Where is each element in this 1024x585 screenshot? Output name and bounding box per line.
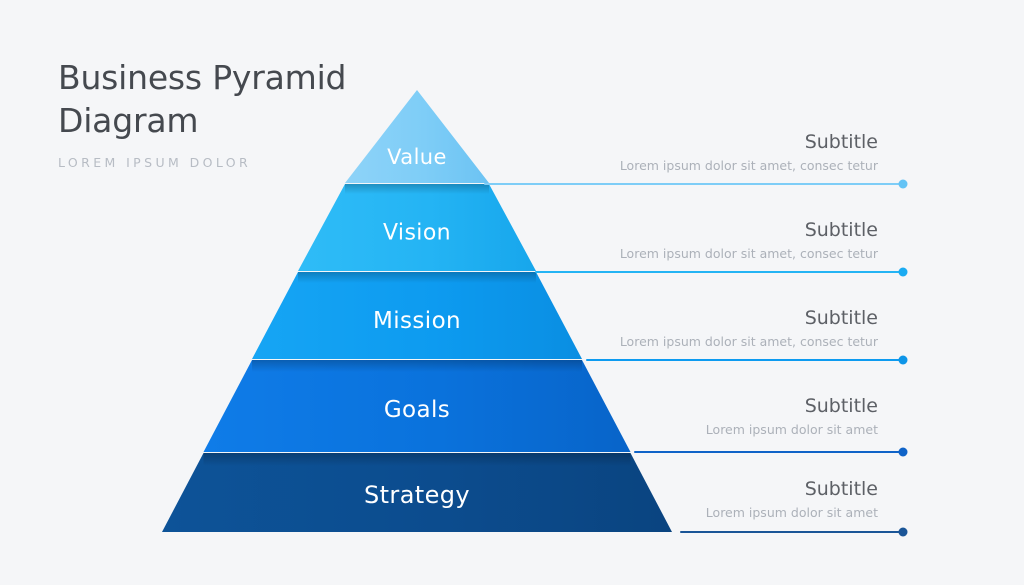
slide-canvas: Business Pyramid Diagram LOREM IPSUM DOL…	[0, 0, 1024, 585]
annotation-title: Subtitle	[578, 219, 878, 242]
annotation-title: Subtitle	[608, 478, 878, 501]
pyramid-label-mission: Mission	[373, 308, 461, 334]
annotation-row-value: Subtitle Lorem ipsum dolor sit amet, con…	[578, 131, 878, 175]
annotation-description: Lorem ipsum dolor sit amet, consec tetur	[578, 245, 878, 263]
pyramid-label-strategy: Strategy	[364, 481, 470, 509]
connector-dot-mission	[899, 356, 908, 365]
annotation-row-strategy: Subtitle Lorem ipsum dolor sit amet	[608, 478, 878, 522]
connector-dot-goals	[899, 448, 908, 457]
pyramid-tier-mission	[252, 272, 582, 359]
heading-block: Business Pyramid Diagram LOREM IPSUM DOL…	[58, 56, 418, 170]
annotation-title: Subtitle	[608, 395, 878, 418]
connector-dot-value	[899, 180, 908, 189]
annotation-title: Subtitle	[578, 131, 878, 154]
page-title: Business Pyramid Diagram	[58, 56, 418, 142]
annotation-description: Lorem ipsum dolor sit amet	[608, 504, 878, 522]
pyramid-label-vision: Vision	[383, 221, 451, 246]
pyramid-label-goals: Goals	[384, 397, 450, 423]
connector-dot-vision	[899, 268, 908, 277]
connector-line-value	[484, 183, 903, 185]
connector-line-strategy	[680, 531, 903, 533]
pyramid-tier-vision	[298, 184, 536, 271]
annotation-description: Lorem ipsum dolor sit amet	[608, 421, 878, 439]
connector-line-mission	[586, 359, 903, 361]
annotation-description: Lorem ipsum dolor sit amet, consec tetur	[578, 157, 878, 175]
annotation-description: Lorem ipsum dolor sit amet, consec tetur	[578, 333, 878, 351]
pyramid-tier-goals	[204, 360, 631, 452]
annotation-title: Subtitle	[578, 307, 878, 330]
page-kicker: LOREM IPSUM DOLOR	[58, 155, 418, 170]
annotation-row-mission: Subtitle Lorem ipsum dolor sit amet, con…	[578, 307, 878, 351]
connector-line-goals	[634, 451, 903, 453]
pyramid-tier-strategy	[162, 453, 672, 532]
connector-dot-strategy	[899, 528, 908, 537]
annotation-row-vision: Subtitle Lorem ipsum dolor sit amet, con…	[578, 219, 878, 263]
annotation-row-goals: Subtitle Lorem ipsum dolor sit amet	[608, 395, 878, 439]
connector-line-vision	[535, 271, 903, 273]
